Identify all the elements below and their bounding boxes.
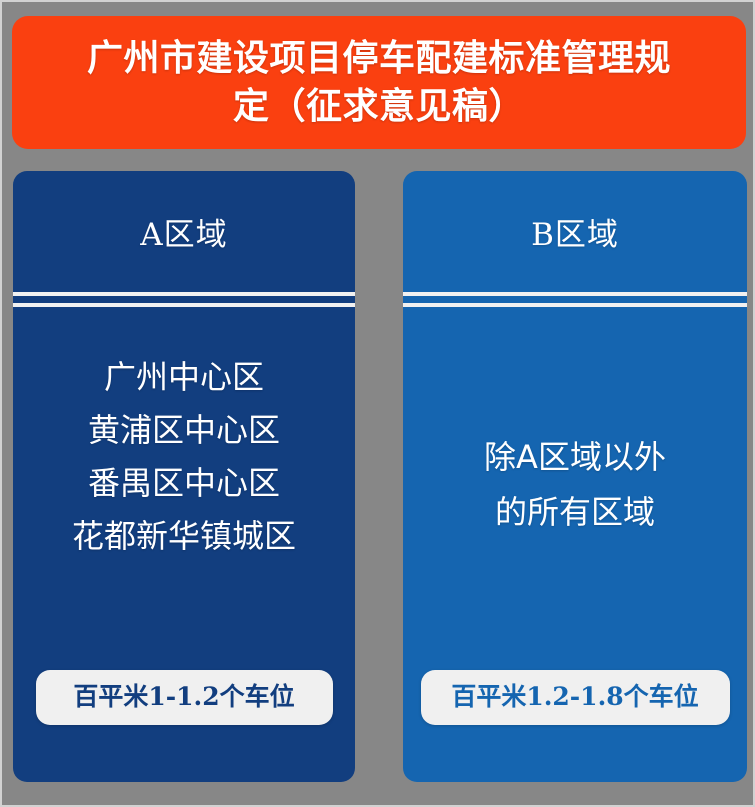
zone-b-line-2: 的所有区域: [495, 485, 655, 539]
title-line-2: 定（征求意见稿）: [233, 86, 525, 127]
zone-b-body: 除A区域以外 的所有区域: [403, 307, 747, 670]
zone-b-divider: [403, 292, 747, 307]
title-line-1: 广州市建设项目停车配建标准管理规: [87, 38, 671, 79]
divider-gap: [403, 296, 747, 303]
zone-a-footer: 百平米1-1.2个车位: [13, 670, 355, 782]
title-banner: 广州市建设项目停车配建标准管理规 定（征求意见稿）: [12, 16, 746, 149]
divider-gap: [13, 296, 355, 303]
zone-b-line-1: 除A区域以外: [484, 430, 666, 484]
zone-a-ratio-badge: 百平米1-1.2个车位: [36, 670, 333, 725]
zone-a-ratio-text: 百平米1-1.2个车位: [73, 684, 294, 709]
zone-a-header: A区域: [13, 171, 355, 292]
zone-panel-a[interactable]: A区域 广州中心区 黄浦区中心区 番禺区中心区 花都新华镇城区 百平米1-1.2…: [13, 171, 355, 782]
infographic-root: 广州市建设项目停车配建标准管理规 定（征求意见稿） A区域 广州中心区 黄浦区中…: [0, 0, 755, 807]
zone-a-body: 广州中心区 黄浦区中心区 番禺区中心区 花都新华镇城区: [13, 307, 355, 670]
zone-a-divider: [13, 292, 355, 307]
zone-b-footer: 百平米1.2-1.8个车位: [403, 670, 747, 782]
page-title: 广州市建设项目停车配建标准管理规 定（征求意见稿）: [87, 35, 671, 130]
zone-panel-b[interactable]: B区域 除A区域以外 的所有区域 百平米1.2-1.8个车位: [403, 171, 747, 782]
zone-a-line-3: 番禺区中心区: [88, 457, 280, 510]
zone-b-header: B区域: [403, 171, 747, 292]
zone-b-ratio-badge: 百平米1.2-1.8个车位: [421, 670, 730, 725]
zone-a-title: A区域: [140, 209, 227, 254]
zone-b-title: B区域: [531, 209, 619, 254]
zone-a-line-4: 花都新华镇城区: [72, 510, 296, 563]
zone-a-line-2: 黄浦区中心区: [88, 404, 280, 457]
zone-panels: A区域 广州中心区 黄浦区中心区 番禺区中心区 花都新华镇城区 百平米1-1.2…: [2, 171, 755, 783]
zone-a-line-1: 广州中心区: [104, 351, 264, 404]
zone-b-ratio-text: 百平米1.2-1.8个车位: [451, 684, 698, 709]
